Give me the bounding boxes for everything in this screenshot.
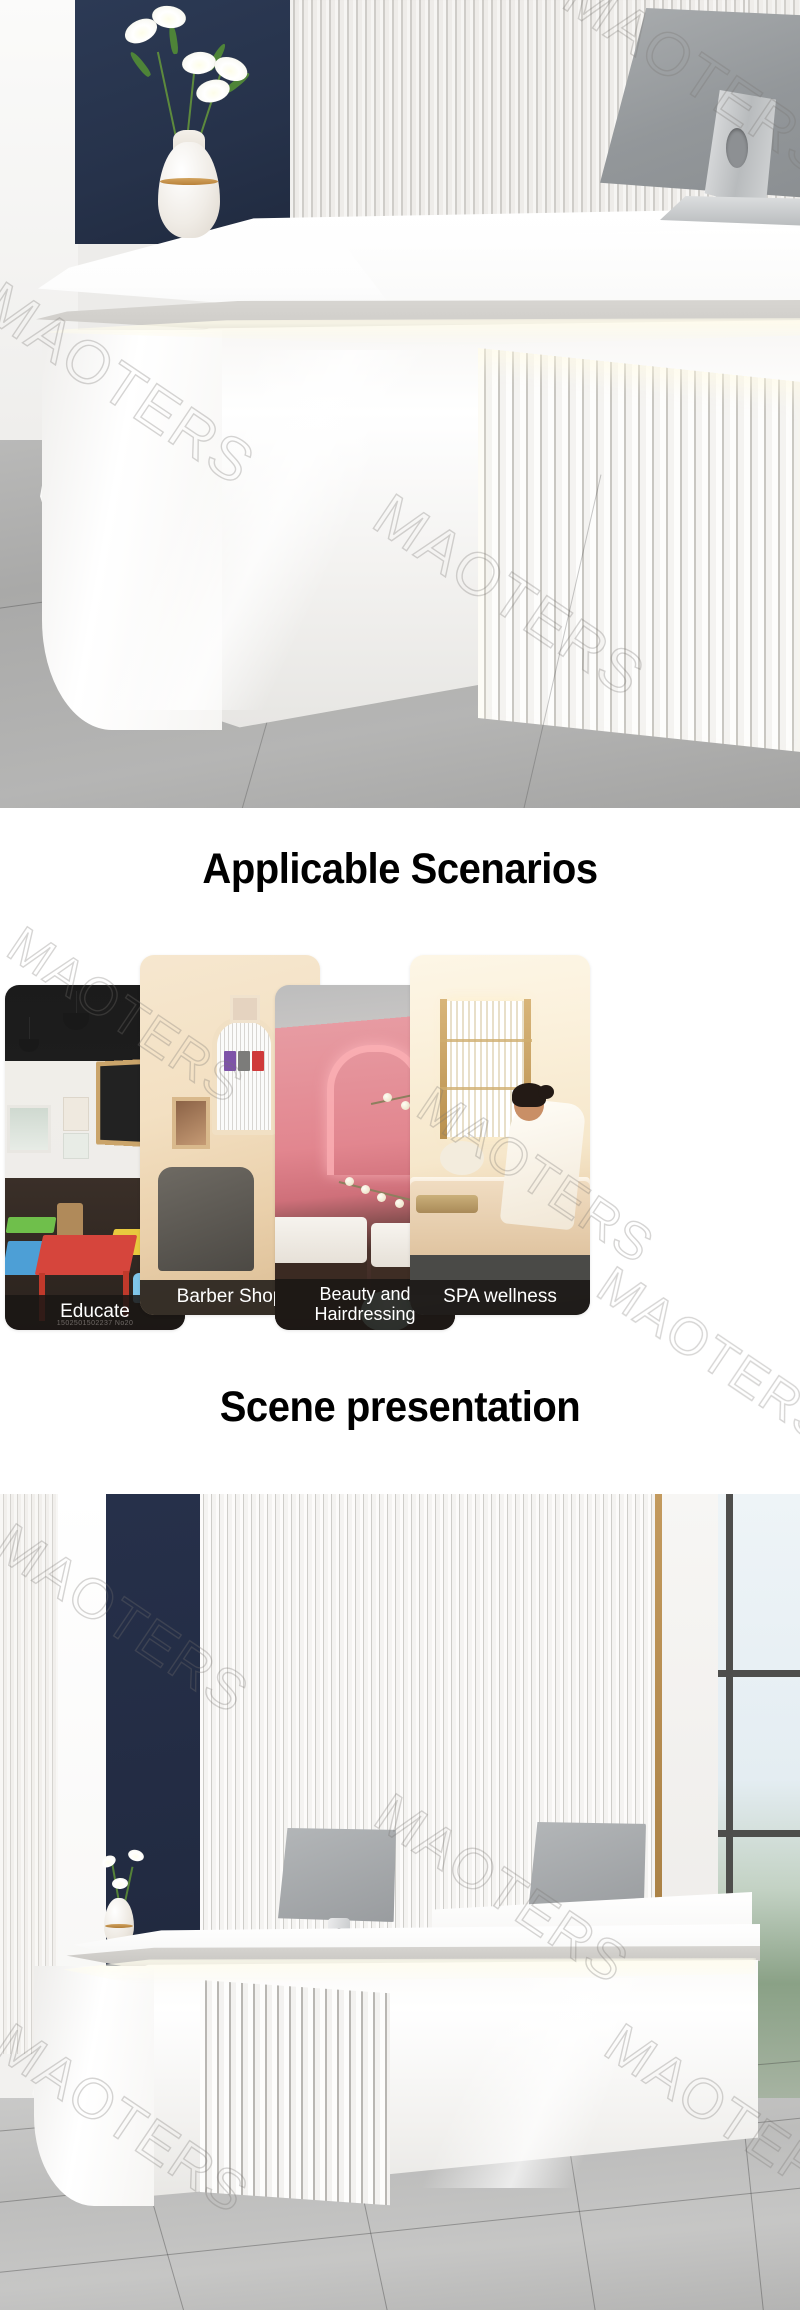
scene-window-mullion-horizontal xyxy=(718,1830,800,1837)
kids-table-green xyxy=(6,1217,57,1233)
scenario-photo-spa-wellness xyxy=(410,955,590,1315)
scenario-card-spa-wellness[interactable]: SPA wellness xyxy=(410,955,590,1315)
scene-vase-gold-ring xyxy=(105,1924,133,1928)
scene-top-margin xyxy=(0,1450,800,1498)
reception-desk-gloss-reflection xyxy=(80,350,480,710)
kids-table-red xyxy=(35,1235,138,1275)
scene-desk-curved-corner xyxy=(34,1966,154,2206)
page-title-applicable-scenarios: Applicable Scenarios xyxy=(28,845,772,894)
blossom-flower xyxy=(361,1185,370,1194)
hero-product-image: MAOTERS MAOTERS MAOTERS xyxy=(0,0,800,808)
scene-desk-gloss-reflection xyxy=(390,1978,750,2188)
blossom-flower xyxy=(383,1093,392,1102)
spa-guest-hair-bun xyxy=(538,1085,554,1099)
spa-pillow xyxy=(440,1141,484,1175)
scenario-caption-spa-wellness: SPA wellness xyxy=(410,1280,590,1315)
hair-product-bottle xyxy=(224,1051,236,1071)
wall-poster xyxy=(63,1133,89,1159)
pendant-lamp-icon xyxy=(63,1013,89,1030)
scene-monitor-screen xyxy=(278,1828,396,1922)
blossom-flower xyxy=(377,1193,386,1202)
hair-product-bottle xyxy=(252,1051,264,1071)
scene-presentation-image: MAOTERS MAOTERS MAOTERS MAOTERS xyxy=(0,1450,800,2310)
scenario-label-educate: Educate xyxy=(60,1301,130,1322)
framed-portrait xyxy=(172,1097,210,1149)
lit-wall-arch xyxy=(327,1045,423,1175)
blossom-flower xyxy=(395,1199,404,1208)
spa-guest-body xyxy=(500,1097,587,1230)
classroom-window xyxy=(7,1105,51,1153)
hair-product-bottle xyxy=(238,1051,250,1071)
monitor-stand-cutout xyxy=(726,128,748,168)
scenario-micro-text: 1502501502237 No20 xyxy=(57,1320,134,1328)
blossom-flower xyxy=(345,1177,354,1186)
spa-tray xyxy=(416,1195,478,1213)
scene-desk-slat-panel xyxy=(200,1980,390,2205)
framed-picture xyxy=(230,995,260,1023)
blossom-flower xyxy=(401,1101,410,1110)
page-title-scene-presentation: Scene presentation xyxy=(28,1383,772,1432)
scene-window-mullion-horizontal xyxy=(718,1670,800,1677)
pendant-lamp-icon xyxy=(19,1039,39,1052)
wood-rail xyxy=(440,1039,532,1042)
reception-desk-slat-panel xyxy=(478,348,800,753)
vase-gold-ring xyxy=(160,178,218,185)
product-detail-page: MAOTERS MAOTERS MAOTERS Applicable Scena… xyxy=(0,0,800,2310)
wall-poster xyxy=(63,1097,89,1131)
scenario-card-grid: Educate 1502501502237 No20 Barber Shop xyxy=(0,925,800,1345)
barber-chair-front xyxy=(158,1167,254,1271)
massage-bed xyxy=(275,1217,367,1263)
wood-post xyxy=(440,999,447,1139)
salon-mirror xyxy=(212,1017,276,1135)
